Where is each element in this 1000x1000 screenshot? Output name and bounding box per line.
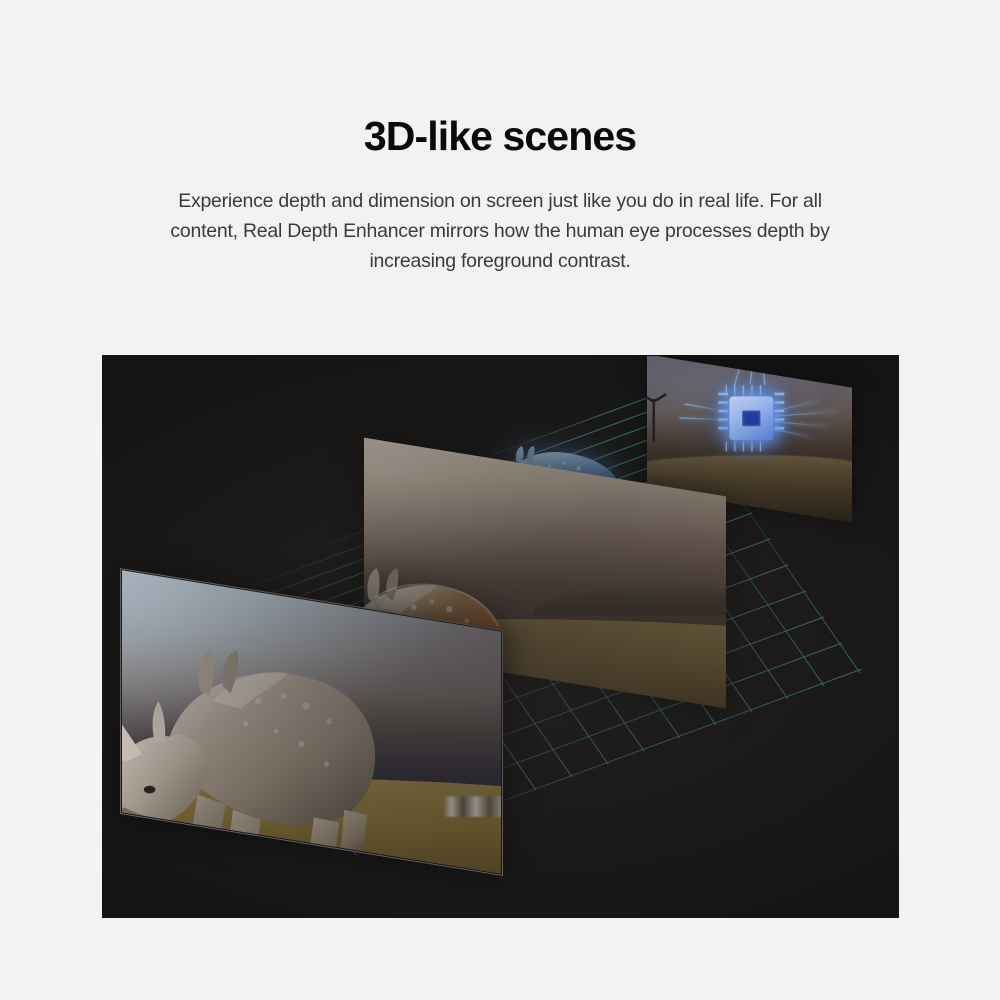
chip-core xyxy=(742,411,760,427)
page-description: Experience depth and dimension on screen… xyxy=(170,187,830,276)
chip-body xyxy=(729,397,773,441)
page-root: 3D-like scenes Experience depth and dime… xyxy=(0,0,1000,1000)
dead-tree-icon xyxy=(652,399,654,442)
hero-visual xyxy=(102,355,899,918)
intro-text-block: 3D-like scenes Experience depth and dime… xyxy=(0,112,1000,276)
depth-stage xyxy=(102,355,899,918)
page-title: 3D-like scenes xyxy=(0,112,1000,160)
processor-chip-icon xyxy=(729,397,773,441)
